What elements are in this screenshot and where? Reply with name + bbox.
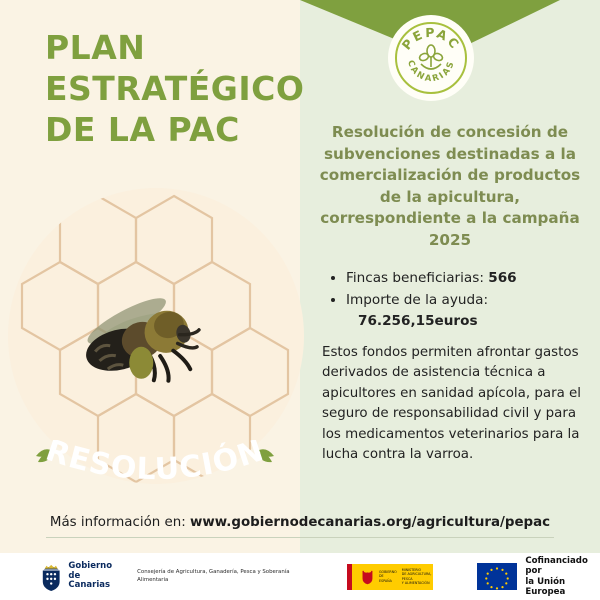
- eu-line-1: Cofinanciado por: [525, 556, 600, 577]
- title-line-3: DE LA PAC: [45, 110, 295, 151]
- eu-cofinancing-text: Cofinanciado por la Unión Europea: [525, 556, 600, 597]
- eu-cofinancing-logo: Cofinanciado por la Unión Europea: [477, 556, 600, 597]
- footer-logos: Gobierno de Canarias Consejería de Agric…: [0, 553, 600, 600]
- gobierno-canarias-logo: Gobierno de Canarias: [40, 562, 121, 592]
- pepac-canarias-logo: PEPAC CANARIAS: [391, 18, 471, 98]
- logo-top-text: PEPAC: [399, 25, 464, 53]
- spain-red-bar: [347, 564, 352, 590]
- importe-label: Importe de la ayuda:: [346, 292, 488, 308]
- svg-text:RESOLUCIÓN: RESOLUCIÓN: [41, 440, 268, 487]
- key-figures-list: Fincas beneficiarias: 566 Importe de la …: [330, 268, 600, 333]
- ministerio-line-1: GOBIERNO DE ESPAÑA: [379, 570, 397, 583]
- content-heading: Resolución de concesión de subvenciones …: [312, 122, 588, 251]
- more-info-prefix: Más información en:: [50, 515, 186, 530]
- ministerio-line-2: MINISTERIO DE AGRICULTURA, PESCA Y ALIME…: [402, 568, 432, 585]
- gobierno-canarias-text: Gobierno de Canarias: [68, 562, 121, 591]
- canarias-shield-icon: [40, 562, 62, 592]
- eu-line-2: la Unión Europea: [525, 577, 600, 598]
- gobierno-line-2: de Canarias: [68, 572, 121, 592]
- bee-illustration: [80, 280, 220, 400]
- poster-canvas: PEPAC CANARIAS PLAN ESTRATÉGICO DE LA PA…: [0, 0, 600, 600]
- more-info-bar: Más información en: www.gobiernodecanari…: [0, 500, 600, 553]
- resolucion-text: RESOLUCIÓN: [41, 440, 268, 487]
- ministerio-espana-logo: GOBIERNO DE ESPAÑA MINISTERIO DE AGRICUL…: [347, 564, 433, 590]
- website-url[interactable]: www.gobiernodecanarias.org/agricultura/p…: [190, 515, 550, 530]
- consejeria-text: Consejería de Agricultura, Ganadería, Pe…: [137, 569, 311, 584]
- ministerio-text: GOBIERNO DE ESPAÑA: [379, 570, 397, 583]
- fincas-value: 566: [488, 270, 516, 286]
- title-line-2: ESTRATÉGICO: [45, 69, 295, 110]
- plant-icon: [418, 45, 443, 69]
- svg-text:PEPAC: PEPAC: [399, 25, 464, 53]
- importe-value: 76.256,15euros: [346, 311, 600, 331]
- fincas-label: Fincas beneficiarias:: [346, 270, 484, 286]
- list-item-importe: Importe de la ayuda: 76.256,15euros: [346, 290, 600, 331]
- title-line-1: PLAN: [45, 28, 295, 69]
- content-paragraph: Estos fondos permiten afrontar gastos de…: [322, 343, 584, 465]
- logo-artwork: PEPAC CANARIAS: [391, 18, 471, 98]
- spain-coat-of-arms-icon: [361, 567, 374, 587]
- ministerio-text-2: MINISTERIO DE AGRICULTURA, PESCA Y ALIME…: [402, 568, 434, 585]
- list-item-fincas: Fincas beneficiarias: 566: [346, 268, 600, 288]
- eu-flag-icon: [477, 563, 517, 590]
- poster-title: PLAN ESTRATÉGICO DE LA PAC: [45, 28, 295, 151]
- more-info-inner: Más información en: www.gobiernodecanari…: [46, 515, 554, 538]
